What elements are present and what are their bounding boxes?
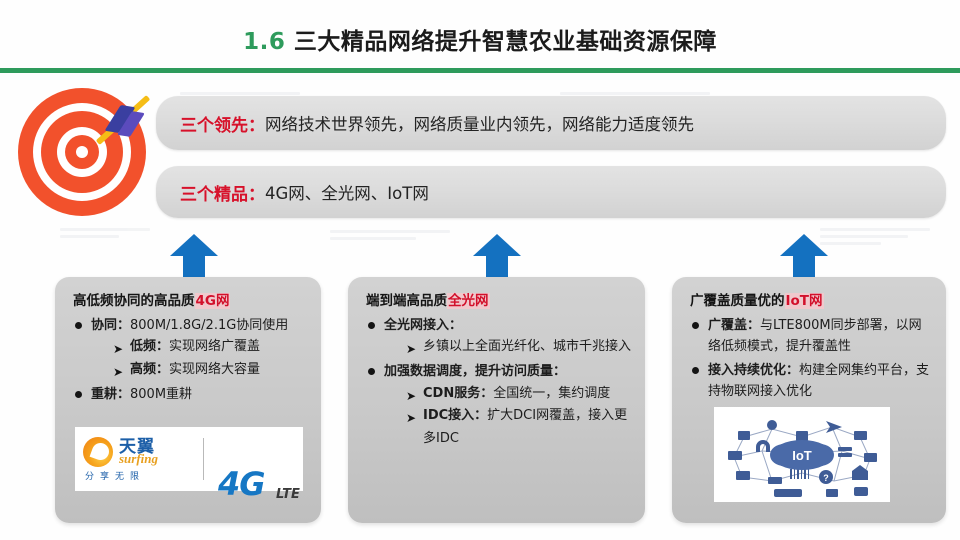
list-item: ➤高频：实现网络大容量: [113, 359, 309, 382]
bullet-dot-icon: [75, 391, 82, 398]
list-item: ➤CDN服务：全国统一，集约调度: [406, 383, 633, 406]
banner-leading-text: 网络技术世界领先，网络质量业内领先，网络能力适度领先: [265, 111, 694, 135]
chevron-right-icon: ➤: [113, 362, 123, 383]
list-item: ➤IDC接入：扩大DCI网覆盖，接入更多IDC: [406, 405, 633, 451]
banner-leading-label: 三个领先：: [180, 111, 265, 136]
background-watermark: [60, 228, 150, 242]
card-iot-heading-highlight: IoT网: [785, 293, 824, 309]
sub-bullet-text: 乡镇以上全面光纤化、城市千兆接入: [423, 339, 631, 354]
sub-bullet-label: IDC接入：: [423, 408, 487, 423]
card-4g-heading: 高低频协同的高品质4G网: [73, 289, 311, 309]
list-item: 广覆盖：与LTE800M同步部署，以网络低频模式，提升覆盖性: [692, 315, 934, 358]
bullet-label: 广覆盖：: [708, 318, 760, 333]
background-watermark: [820, 228, 930, 249]
list-item: ➤乡镇以上全面光纤化、城市千兆接入: [406, 336, 633, 359]
arrow-up-icon-optical: [473, 234, 521, 280]
chevron-right-icon: ➤: [406, 339, 416, 360]
banner-premium-label: 三个精品：: [180, 180, 265, 205]
sub-bullet-text: 实现网络大容量: [169, 362, 260, 377]
telecom-4g-logo-image: 天翼 surfing 分享无限 4G LTE: [75, 427, 303, 491]
title-text: 三大精品网络提升智慧农业基础资源保障: [294, 29, 717, 55]
arrow-up-icon-iot: [780, 234, 828, 280]
iot-diagram-image: IoT ?: [714, 407, 890, 502]
page-title: 1.6 三大精品网络提升智慧农业基础资源保障: [0, 22, 960, 56]
card-optical-heading: 端到端高品质全光网: [366, 289, 635, 309]
logo-divider: [203, 438, 204, 480]
bullet-label: 接入持续优化：: [708, 363, 799, 378]
title-divider: [0, 68, 960, 73]
tianyi-logo: 天翼 surfing 分享无限: [75, 427, 203, 491]
list-item: 全光网接入： ➤乡镇以上全面光纤化、城市千兆接入: [368, 315, 633, 359]
bullet-dot-icon: [75, 322, 82, 329]
bullet-dot-icon: [368, 322, 375, 329]
target-bullseye-icon: [16, 88, 150, 216]
bullet-dot-icon: [692, 322, 699, 329]
4g-label: 4G: [218, 465, 265, 503]
background-watermark: [330, 230, 450, 244]
banner-leading: 三个领先： 网络技术世界领先，网络质量业内领先，网络能力适度领先: [156, 96, 946, 150]
sub-bullet-label: CDN服务：: [423, 386, 493, 401]
svg-text:?: ?: [823, 473, 829, 483]
bullet-label: 加强数据调度，提升访问质量：: [384, 364, 566, 379]
banner-premium: 三个精品： 4G网、全光网、IoT网: [156, 166, 946, 218]
sub-bullet-label: 高频：: [130, 362, 169, 377]
title-number: 1.6: [243, 29, 285, 55]
chevron-right-icon: ➤: [406, 408, 416, 429]
chevron-right-icon: ➤: [406, 386, 416, 407]
bullet-label: 协同：: [91, 318, 130, 333]
tianyi-brand-en: surfing: [119, 451, 158, 467]
bullet-label: 重耕：: [91, 387, 130, 402]
sub-bullet-text: 实现网络广覆盖: [169, 339, 260, 354]
list-item: 接入持续优化：构建全网集约平台，支持物联网接入优化: [692, 360, 934, 403]
tianyi-tagline: 分享无限: [85, 469, 145, 482]
card-iot: 广覆盖质量优的IoT网 广覆盖：与LTE800M同步部署，以网络低频模式，提升覆…: [672, 277, 946, 523]
sub-bullet-label: 低频：: [130, 339, 169, 354]
bullet-dot-icon: [368, 368, 375, 375]
bullet-text: 800M重耕: [130, 387, 192, 402]
sub-bullet-text: 全国统一，集约调度: [493, 386, 610, 401]
bullet-dot-icon: [692, 367, 699, 374]
arrow-up-icon-4g: [170, 234, 218, 280]
bullet-text: 800M/1.8G/2.1G协同使用: [130, 318, 288, 333]
list-item: ➤低频：实现网络广覆盖: [113, 336, 309, 359]
chevron-right-icon: ➤: [113, 339, 123, 360]
bullet-label: 全光网接入：: [384, 318, 462, 333]
card-4g: 高低频协同的高品质4G网 协同：800M/1.8G/2.1G协同使用 ➤低频：实…: [55, 277, 321, 523]
iot-cloud-label: IoT: [792, 448, 812, 463]
slide-canvas: 1.6 三大精品网络提升智慧农业基础资源保障 三个领先： 网络技术世界领先，网络…: [0, 0, 960, 540]
list-item: 重耕：800M重耕: [75, 384, 309, 405]
list-item: 协同：800M/1.8G/2.1G协同使用 ➤低频：实现网络广覆盖 ➤高频：实现…: [75, 315, 309, 382]
card-iot-heading: 广覆盖质量优的IoT网: [690, 289, 936, 309]
lte-label: LTE: [276, 487, 300, 502]
tianyi-swirl-icon: [83, 437, 113, 467]
card-4g-heading-highlight: 4G网: [195, 293, 231, 309]
card-optical-heading-highlight: 全光网: [447, 293, 490, 309]
list-item: 加强数据调度，提升访问质量： ➤CDN服务：全国统一，集约调度 ➤IDC接入：扩…: [368, 361, 633, 451]
banner-premium-text: 4G网、全光网、IoT网: [265, 180, 429, 204]
card-optical: 端到端高品质全光网 全光网接入： ➤乡镇以上全面光纤化、城市千兆接入 加强数据调…: [348, 277, 645, 523]
